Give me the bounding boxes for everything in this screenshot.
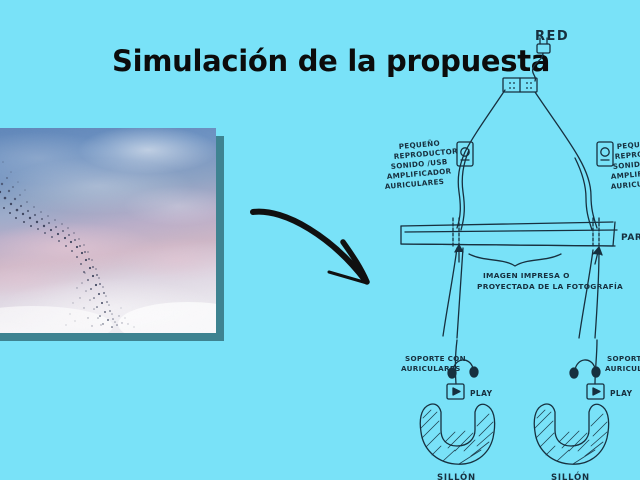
annotation-image-note: IMAGEN IMPRESA O PROYECTADA DE LA FOTOGR… (477, 271, 623, 291)
media-player-right (597, 142, 613, 166)
label-play-right: PLAY (610, 389, 633, 398)
annotation-image-note-line-1: IMAGEN IMPRESA O (483, 271, 570, 280)
listening-station-left: SOPORTE CON AURICULARES PLAY (401, 340, 495, 480)
power-plug-icon (533, 38, 550, 81)
headphone-cables (443, 248, 599, 338)
wall-panel: PARED (401, 218, 640, 248)
label-play-left: PLAY (470, 389, 493, 398)
label-armchair-left: SILLÓN (437, 471, 476, 480)
power-strip-icon (503, 78, 537, 92)
armchair-left: SILLÓN (420, 404, 494, 480)
label-wall: PARED (621, 233, 640, 243)
label-armchair-right: SILLÓN (551, 471, 590, 480)
annotation-device-left: PEQUEÑO REPRODUCTOR SONIDO /USB AMPLIFIC… (385, 138, 458, 191)
image-area-brace (469, 254, 561, 266)
annotation-support-right-line-1: SOPORTE CON (607, 354, 640, 363)
armchair-right: SILLÓN (534, 404, 608, 480)
murmuration-photograph (0, 128, 216, 333)
listening-station-right: SOPORTE CON AURICULARES PLAY (534, 340, 640, 480)
annotation-support-right-line-2: AURICULARES (605, 364, 640, 373)
photo-figure (0, 128, 216, 333)
annotation-image-note-line-2: PROYECTADA DE LA FOTOGRAFÍA (477, 282, 623, 291)
annotation-device-right: PEQUEÑO REPRODUCTOR SONIDO /USB AMPLIFIC… (610, 138, 640, 191)
slide-canvas: Simulación de la propuesta (0, 0, 640, 480)
installation-sketch: RED (385, 18, 640, 480)
suspension-cables (457, 90, 597, 230)
curved-arrow (245, 198, 390, 303)
play-button-left: PLAY (447, 384, 493, 399)
annotation-support-left-line-1: SOPORTE CON (405, 354, 466, 363)
play-button-right: PLAY (587, 384, 633, 399)
